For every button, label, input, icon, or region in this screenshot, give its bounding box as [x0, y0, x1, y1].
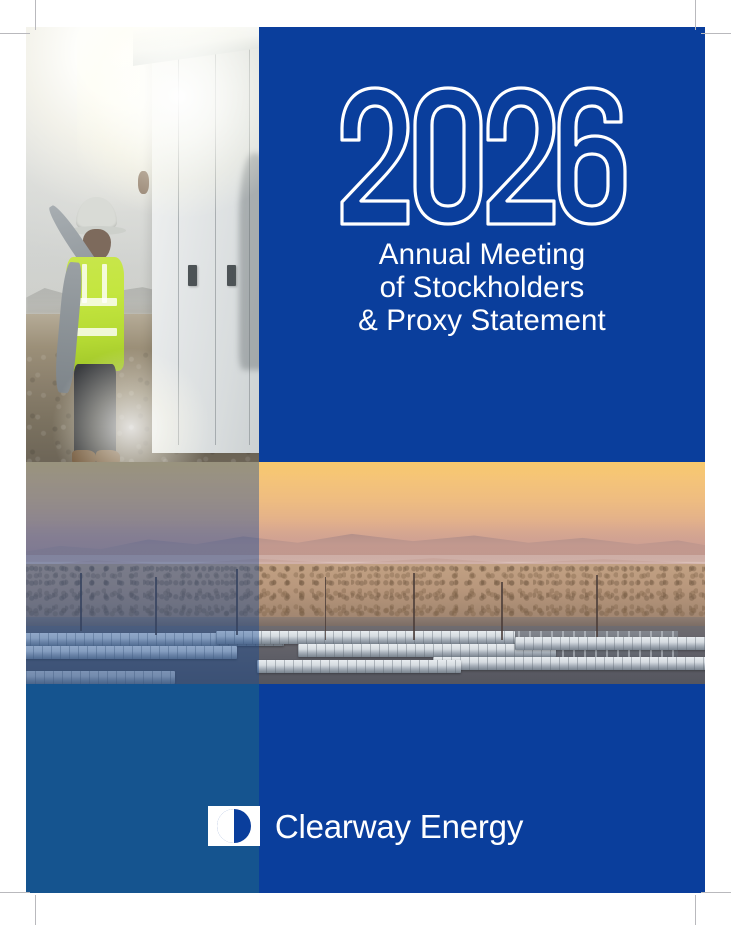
bottom-right-blue-block	[259, 684, 705, 893]
transmission-pole	[413, 573, 415, 640]
cover-subtitle: Annual Meeting of Stockholders & Proxy S…	[277, 238, 687, 337]
clearway-energy-logo-lockup: Clearway Energy	[26, 806, 705, 846]
clearway-logo-mark	[208, 806, 260, 846]
crop-mark-top-left-horizontal	[0, 33, 30, 34]
cover-artboard: .yr { font-family: "Liberation Sans", sa…	[26, 27, 705, 893]
worker-at-battery-enclosure-photo	[26, 27, 259, 462]
transmission-pole	[325, 577, 327, 639]
enclosure-seam	[178, 44, 179, 445]
worker-figure	[59, 197, 152, 458]
transmission-pole	[501, 582, 503, 640]
battery-container-row	[515, 637, 705, 650]
cover-year: .yr { font-family: "Liberation Sans", sa…	[337, 82, 627, 230]
crop-mark-bottom-right-vertical	[695, 895, 696, 925]
subtitle-line-1: Annual Meeting	[277, 238, 687, 271]
battery-container-row	[433, 657, 705, 670]
cover-bottom-row: Clearway Energy	[26, 684, 705, 893]
vest-reflective-stripe	[73, 328, 117, 336]
subtitle-line-2: of Stockholders	[277, 271, 687, 304]
worker-legs	[74, 364, 117, 462]
crop-mark-bottom-right-horizontal	[701, 892, 731, 893]
crop-mark-bottom-left-horizontal	[0, 892, 30, 893]
cast-shadow-of-worker	[239, 153, 259, 370]
worker-boot	[72, 450, 96, 462]
proxy-cover-page: .yr { font-family: "Liberation Sans", sa…	[0, 0, 731, 925]
bottom-left-blue-block	[26, 684, 259, 893]
crop-mark-top-right-vertical	[695, 0, 696, 30]
crop-mark-top-right-horizontal	[701, 33, 731, 34]
clearway-energy-wordmark: Clearway Energy	[275, 810, 523, 843]
worker-boot	[96, 450, 120, 462]
transmission-pole	[596, 575, 598, 637]
enclosure-handle	[227, 265, 236, 286]
vest-reflective-stripe	[82, 264, 87, 303]
worker-hand	[138, 171, 149, 194]
brand-blue-overlay	[26, 462, 259, 684]
battery-container-row	[257, 660, 461, 673]
subtitle-line-3: & Proxy Statement	[277, 304, 687, 337]
title-stack: .yr { font-family: "Liberation Sans", sa…	[259, 82, 705, 337]
enclosure-handle	[188, 265, 197, 286]
battery-container-row	[216, 631, 515, 644]
battery-enclosure	[152, 36, 259, 454]
cover-top-row: .yr { font-family: "Liberation Sans", sa…	[26, 27, 705, 462]
vest-reflective-stripe	[102, 264, 107, 303]
title-panel: .yr { font-family: "Liberation Sans", sa…	[259, 27, 705, 462]
desert-battery-storage-facility-photo	[26, 462, 705, 684]
enclosure-seam	[215, 44, 216, 445]
crop-mark-bottom-left-vertical	[35, 895, 36, 925]
crop-mark-top-left-vertical	[35, 0, 36, 30]
